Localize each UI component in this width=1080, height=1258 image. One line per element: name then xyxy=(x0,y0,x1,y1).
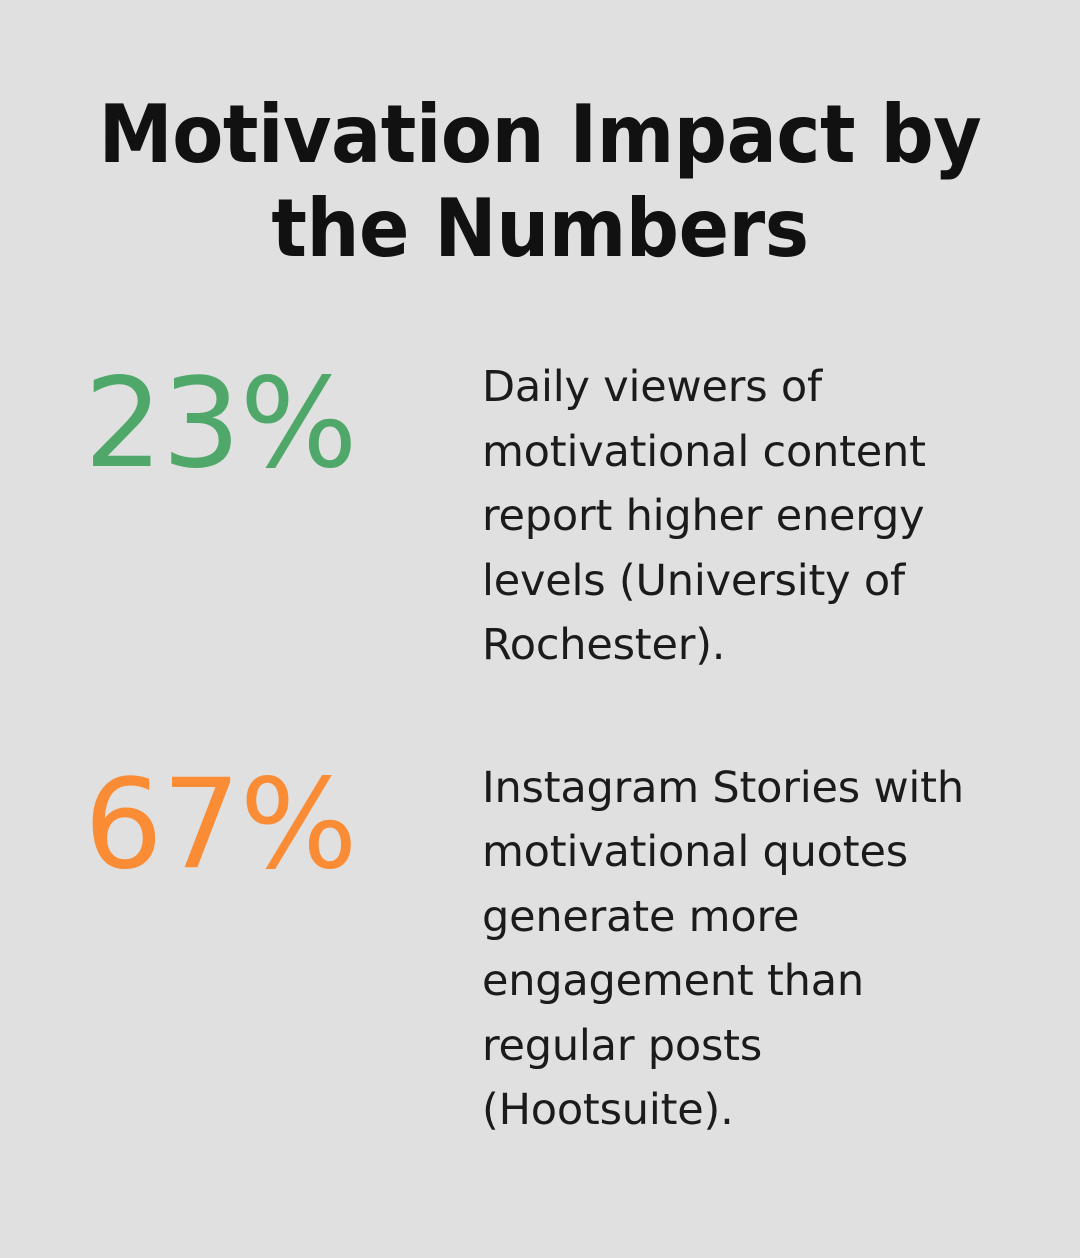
stat-description-1: Daily viewers of motivational content re… xyxy=(482,355,972,678)
title-block: Motivation Impact by the Numbers xyxy=(60,88,1020,277)
stat-item-1: 23% Daily viewers of motivational conten… xyxy=(0,355,1080,678)
page-title: Motivation Impact by the Numbers xyxy=(94,88,987,277)
stat-list: 23% Daily viewers of motivational conten… xyxy=(0,355,1080,1143)
stat-description-2: Instagram Stories with motivational quot… xyxy=(482,756,972,1143)
stat-figure-value-2: 67% xyxy=(84,762,482,888)
infographic-canvas: Motivation Impact by the Numbers 23% Dai… xyxy=(0,0,1080,1258)
stat-figure-value-1: 23% xyxy=(84,361,482,487)
stat-item-2: 67% Instagram Stories with motivational … xyxy=(0,756,1080,1143)
